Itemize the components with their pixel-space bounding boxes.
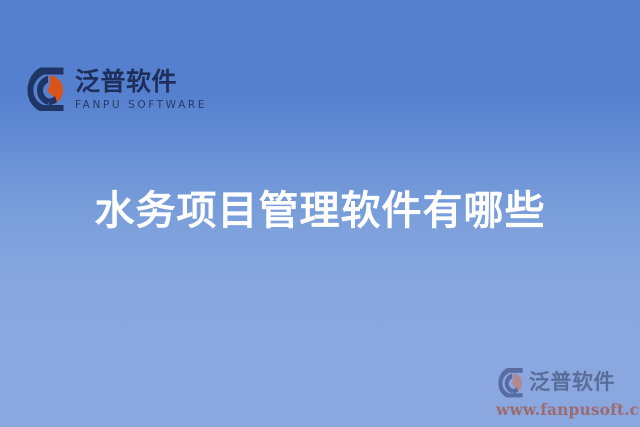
watermark-name-cn: 泛普软件: [529, 372, 615, 393]
watermark: 泛普软件 www.fanpusoft.com: [496, 367, 636, 418]
fanpu-logo-mark-icon: [498, 367, 525, 398]
page-title: 水务项目管理软件有哪些: [0, 188, 640, 235]
watermark-url: www.fanpusoft.com: [496, 402, 636, 418]
watermark-logo: 泛普软件: [496, 367, 636, 398]
fanpu-logo-mark-icon: [27, 66, 67, 112]
promo-banner: 泛普软件 FANPU SOFTWARE 水务项目管理软件有哪些 泛普软件 www…: [0, 0, 640, 427]
brand-logo[interactable]: 泛普软件 FANPU SOFTWARE: [27, 66, 207, 112]
brand-wordmark: 泛普软件 FANPU SOFTWARE: [75, 66, 207, 112]
brand-name-cn: 泛普软件: [75, 68, 207, 95]
brand-name-en: FANPU SOFTWARE: [75, 100, 207, 112]
